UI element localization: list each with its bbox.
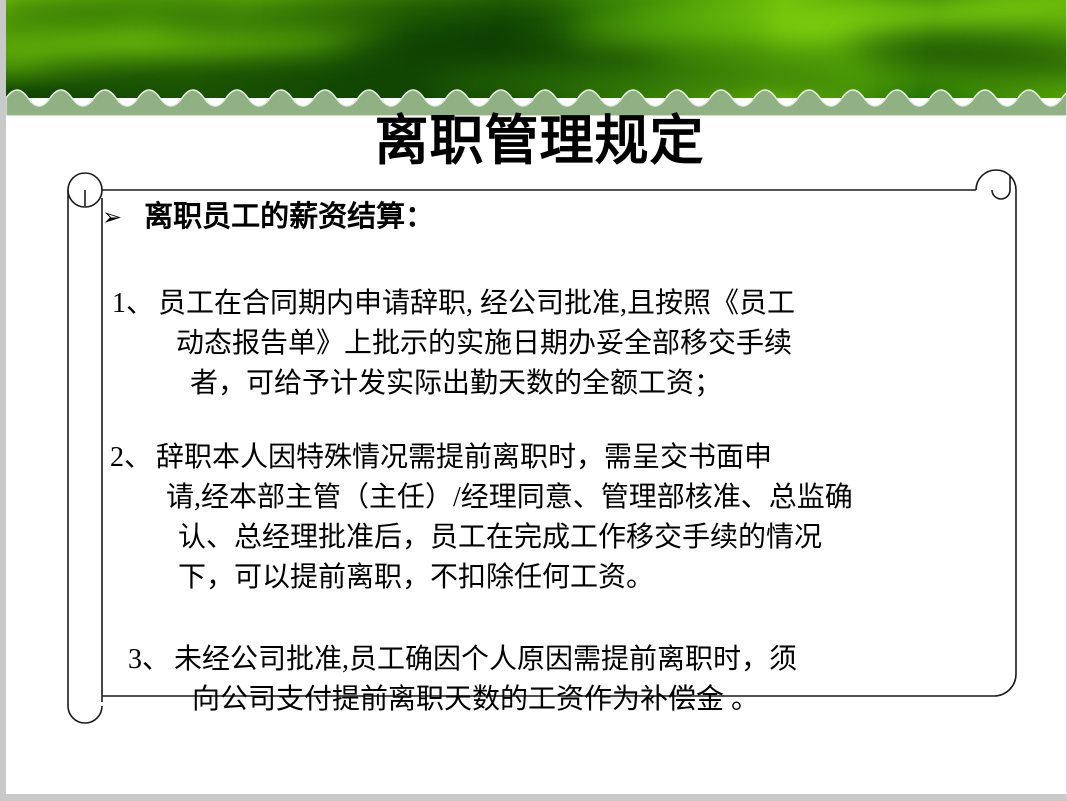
list-item-text: 员工在合同期内申请辞职, 经公司批准,且按照《员工 动态报告单》上批示的实施日期… <box>158 284 1002 404</box>
scroll-curl-top-left <box>68 173 102 207</box>
list-item-line: 认、总经理批准后，员工在完成工作移交手续的情况 <box>156 518 1002 558</box>
scroll-tube-bottom-cap <box>68 706 102 723</box>
arrowhead-bullet-icon: ➢ <box>102 198 122 236</box>
list-item-line: 请,经本部主管（主任）/经理同意、管理部核准、总监确 <box>156 478 1002 518</box>
list-item-text: 未经公司批准,员工确因个人原因需提前离职时，须 向公司支付提前离职天数的工资作为… <box>174 640 1002 720</box>
list-item-line: 未经公司批准,员工确因个人原因需提前离职时，须 <box>174 640 1002 680</box>
section-heading-label: 离职员工的薪资结算： <box>144 198 1002 236</box>
scroll-curl-top-right <box>976 170 1016 190</box>
section-heading: ➢ 离职员工的薪资结算： <box>102 198 1002 236</box>
list-item-line: 向公司支付提前离职天数的工资作为补偿金 。 <box>174 680 1002 720</box>
scroll-curl-top-right-inner <box>992 176 1010 199</box>
presentation-slide: 离职管理规定 ➢ 离职员工的薪资结算： 1、 员工在合同期内申请 <box>0 0 1067 801</box>
list-item-number: 2、 <box>110 438 156 478</box>
list-item: 3、 未经公司批准,员工确因个人原因需提前离职时，须 向公司支付提前离职天数的工… <box>128 640 1002 720</box>
list-item: 1、 员工在合同期内申请辞职, 经公司批准,且按照《员工 动态报告单》上批示的实… <box>112 284 1002 404</box>
slide-body: ➢ 离职员工的薪资结算： 1、 员工在合同期内申请辞职, 经公司批准,且按照《员… <box>102 198 1002 754</box>
list-item-line: 下，可以提前离职，不扣除任何工资。 <box>156 558 1002 598</box>
list-item-text: 辞职本人因特殊情况需提前离职时，需呈交书面申 请,经本部主管（主任）/经理同意、… <box>156 438 1002 598</box>
list-item-number: 1、 <box>112 284 158 324</box>
list-item-line: 员工在合同期内申请辞职, 经公司批准,且按照《员工 <box>158 284 1002 324</box>
list-item: 2、 辞职本人因特殊情况需提前离职时，需呈交书面申 请,经本部主管（主任）/经理… <box>110 438 1002 598</box>
list-item-line: 者，可给予计发实际出勤天数的全额工资； <box>158 364 1002 404</box>
list-item-number: 3、 <box>128 640 174 680</box>
list-item-line: 辞职本人因特殊情况需提前离职时，需呈交书面申 <box>156 438 1002 478</box>
list-item-line: 动态报告单》上批示的实施日期办妥全部移交手续 <box>158 324 1002 364</box>
page-title: 离职管理规定 <box>6 111 1067 171</box>
